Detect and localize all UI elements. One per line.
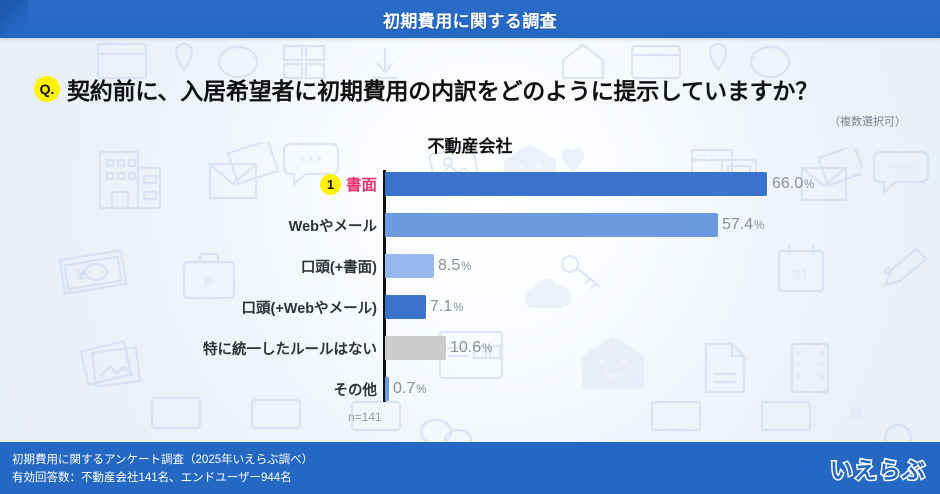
bar-value-label: 57.4%: [722, 216, 764, 234]
bar-row: 口頭(+Webやメール) 7.1%: [0, 295, 940, 319]
bar-label-text: 口頭(+書面): [301, 260, 377, 276]
bar-chart: 不動産会社 1 書面 66.0% Webやメール: [0, 132, 940, 428]
brand-logo: いえらぶ: [830, 448, 926, 488]
bar-label: その他: [334, 379, 378, 400]
bar-label-text: 書面: [346, 173, 377, 195]
footer-bar: 初期費用に関するアンケート調査（2025年いえらぶ調べ） 有効回答数：不動産会社…: [0, 442, 940, 494]
bar-row: 1 書面 66.0%: [0, 172, 940, 196]
footer-source-line: 初期費用に関するアンケート調査（2025年いえらぶ調べ）: [12, 451, 313, 467]
bar-segment: [385, 336, 446, 360]
bar-label-text: Webやメール: [289, 219, 377, 235]
bar-segment: [385, 254, 434, 278]
bar-label-text: その他: [334, 383, 378, 399]
bar-segment: [385, 213, 718, 237]
bar-row: 特に統一したルールはない 10.6%: [0, 336, 940, 360]
bar-label-text: 口頭(+Webやメール): [242, 301, 377, 317]
infographic-root: 31: [0, 0, 940, 494]
bar-value-label: 7.1%: [430, 298, 463, 316]
chart-title: 不動産会社: [0, 132, 940, 157]
rank-badge: 1: [320, 174, 341, 195]
bar-segment: [385, 172, 767, 196]
bar-row: その他 0.7%: [0, 377, 940, 401]
bar-value-label: 0.7%: [393, 380, 426, 398]
bar-value-label: 8.5%: [438, 257, 471, 275]
bar-label: 口頭(+書面): [301, 256, 377, 277]
footer-respondents-line: 有効回答数：不動産会社141名、エンドユーザー944名: [12, 469, 292, 485]
sample-size-label: n=141: [348, 410, 382, 424]
bar-label: Webやメール: [289, 215, 377, 236]
bar-segment: [385, 377, 389, 401]
bar-label: 口頭(+Webやメール): [242, 297, 377, 318]
question-badge: Q.: [34, 76, 60, 102]
chart-axis-line: [383, 170, 386, 402]
bar-value-label: 10.6%: [450, 339, 492, 357]
header-bar: 初期費用に関する調査: [0, 0, 940, 38]
bar-row: Webやメール 57.4%: [0, 213, 940, 237]
bar-label: 特に統一したルールはない: [203, 338, 377, 359]
brand-logo-text: いえらぶ: [830, 451, 926, 485]
page-title: 初期費用に関する調査: [383, 7, 557, 32]
bar-label: 1 書面: [320, 173, 377, 195]
question-note: （複数選択可）: [829, 113, 906, 129]
question-row: Q. 契約前に、入居希望者に初期費用の内訳をどのように提示していますか？: [34, 72, 818, 106]
bar-value-label: 66.0%: [772, 175, 814, 193]
bar-label-text: 特に統一したルールはない: [203, 342, 377, 358]
bar-segment: [385, 295, 426, 319]
header-corner-accent: [0, 0, 28, 38]
chart-plot-area: 1 書面 66.0% Webやメール 57.4%: [0, 166, 940, 406]
bar-row: 口頭(+書面) 8.5%: [0, 254, 940, 278]
question-text: 契約前に、入居希望者に初期費用の内訳をどのように提示していますか？: [67, 72, 818, 106]
